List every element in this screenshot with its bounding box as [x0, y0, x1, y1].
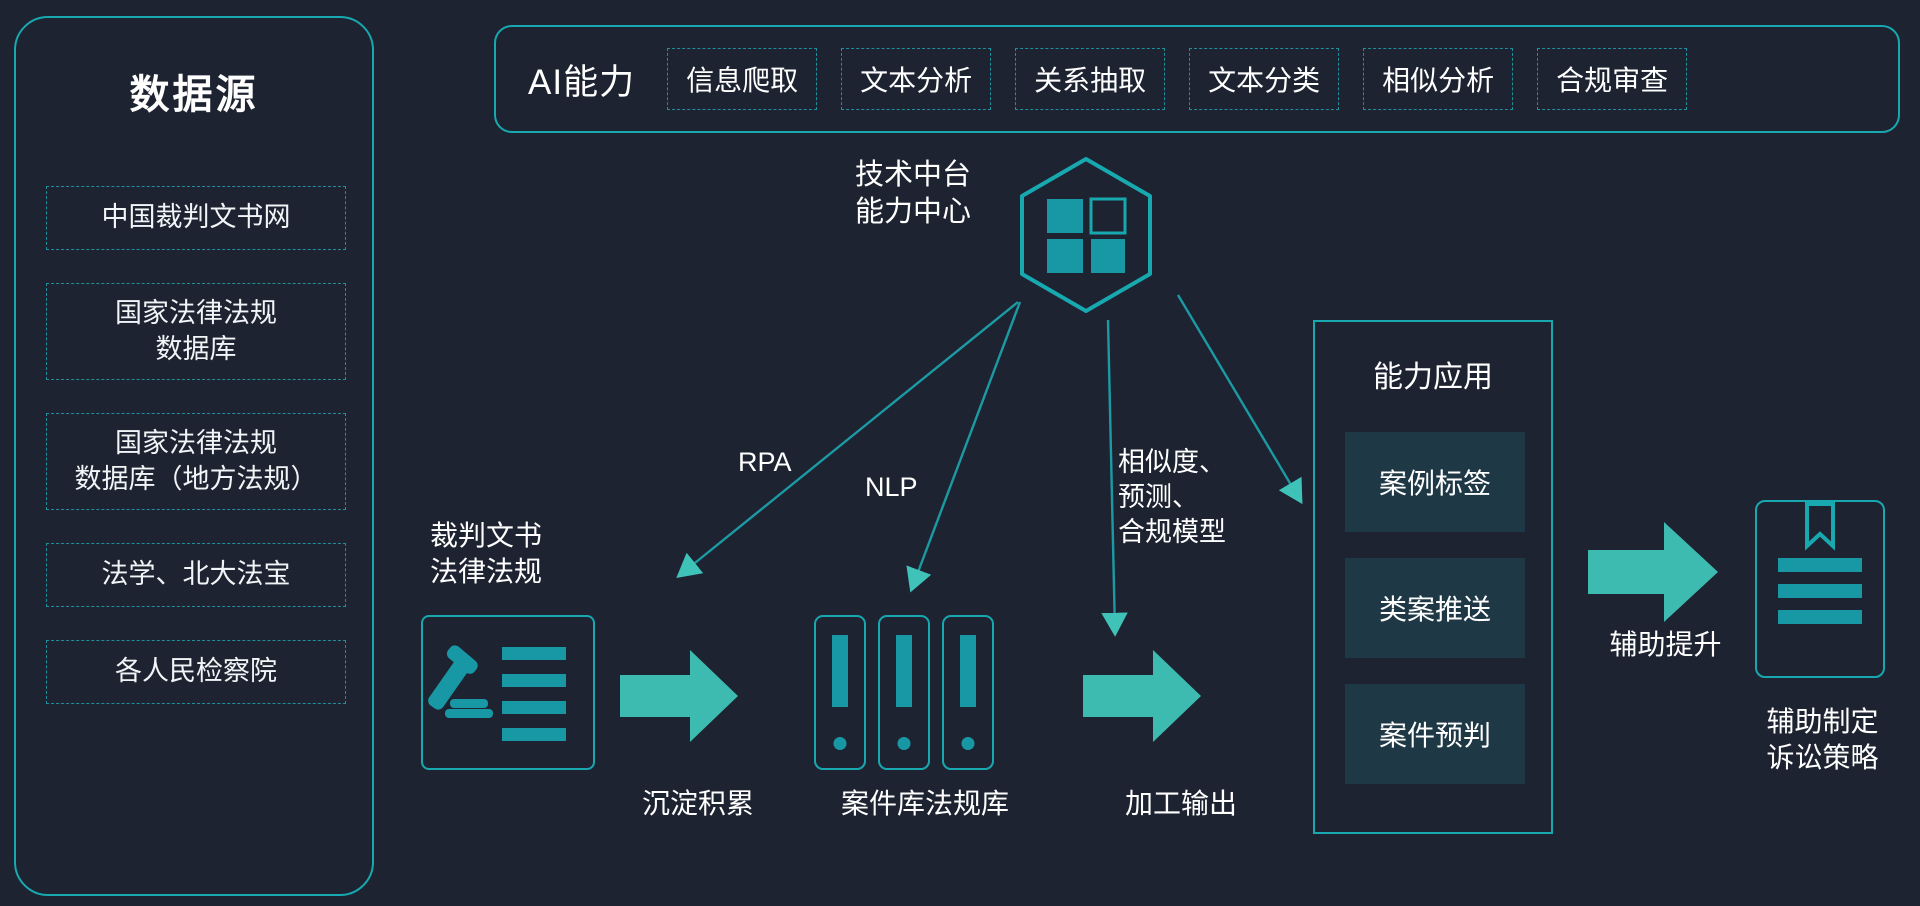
- server-bar: [960, 635, 976, 707]
- ai-chip-0[interactable]: 信息爬取: [667, 48, 817, 110]
- edge-hub-to-processing-output: [1108, 320, 1115, 632]
- ai-capability-chip-list: 信息爬取 文本分析 关系抽取 文本分类 相似分析 合规审查: [667, 48, 1687, 110]
- edge-hub-to-case-repository: [912, 302, 1020, 588]
- server-unit: [814, 615, 866, 770]
- edge-label-nlp: NLP: [865, 470, 918, 505]
- server-unit: [942, 615, 994, 770]
- ability-card-0[interactable]: 案例标签: [1345, 432, 1525, 532]
- gavel-document-icon: [421, 615, 595, 770]
- server-dot: [962, 737, 975, 750]
- data-source-item-label: 国家法律法规 数据库: [115, 296, 277, 367]
- ai-chip-4[interactable]: 相似分析: [1363, 48, 1513, 110]
- flow-arrow-2-icon: [1083, 650, 1201, 747]
- ability-card-1[interactable]: 类案推送: [1345, 558, 1525, 658]
- bookmarked-document-icon: [1755, 500, 1885, 678]
- judgment-documents-top-label: 裁判文书 法律法规: [430, 518, 590, 591]
- case-repository-bottom-label: 案件库法规库: [810, 786, 1040, 822]
- server-bar: [832, 635, 848, 707]
- data-source-panel: 数据源 中国裁判文书网 国家法律法规 数据库 国家法律法规 数据库（地方法规） …: [14, 16, 374, 896]
- judgment-documents-bottom-label: 沉淀积累: [613, 786, 783, 822]
- ability-application-title: 能力应用: [1315, 352, 1551, 396]
- server-unit: [878, 615, 930, 770]
- data-source-item-2[interactable]: 国家法律法规 数据库（地方法规）: [46, 413, 346, 510]
- server-dot: [898, 737, 911, 750]
- data-source-item-label: 国家法律法规 数据库（地方法规）: [75, 426, 318, 497]
- data-source-item-label: 各人民检察院: [115, 654, 277, 690]
- server-dot: [834, 737, 847, 750]
- output-arrow-label: 辅助提升: [1593, 627, 1738, 663]
- edge-label-rpa: RPA: [738, 445, 792, 480]
- ai-chip-5[interactable]: 合规审查: [1537, 48, 1687, 110]
- hexagon-four-squares-icon: [1017, 155, 1155, 315]
- data-source-item-label: 法学、北大法宝: [102, 557, 291, 593]
- data-source-item-4[interactable]: 各人民检察院: [46, 640, 346, 704]
- data-source-item-0[interactable]: 中国裁判文书网: [46, 186, 346, 250]
- ability-application-card-list: 案例标签 类案推送 案件预判: [1345, 432, 1525, 810]
- data-source-title: 数据源: [16, 62, 372, 120]
- ai-chip-1[interactable]: 文本分析: [841, 48, 991, 110]
- edge-hub-to-judgment-documents: [680, 302, 1018, 575]
- ai-capability-title: AI能力: [528, 54, 635, 105]
- edge-label-similarity: 相似度、 预测、 合规模型: [1118, 445, 1226, 550]
- server-rack-icon: [814, 615, 1032, 770]
- ai-capability-bar: AI能力 信息爬取 文本分析 关系抽取 文本分类 相似分析 合规审查: [494, 25, 1900, 133]
- ai-chip-2[interactable]: 关系抽取: [1015, 48, 1165, 110]
- hub-label: 技术中台 能力中心: [855, 157, 971, 231]
- diagram-canvas: 数据源 中国裁判文书网 国家法律法规 数据库 国家法律法规 数据库（地方法规） …: [0, 0, 1920, 906]
- data-source-item-1[interactable]: 国家法律法规 数据库: [46, 283, 346, 380]
- ai-chip-3[interactable]: 文本分类: [1189, 48, 1339, 110]
- ability-card-2[interactable]: 案件预判: [1345, 684, 1525, 784]
- output-arrow-icon: [1588, 522, 1718, 627]
- ability-application-panel: 能力应用 案例标签 类案推送 案件预判: [1313, 320, 1553, 834]
- data-source-item-label: 中国裁判文书网: [102, 200, 291, 236]
- output-caption: 辅助制定 诉讼策略: [1740, 704, 1905, 777]
- flow-arrow-1-icon: [620, 650, 738, 747]
- data-source-item-3[interactable]: 法学、北大法宝: [46, 543, 346, 607]
- data-source-list: 中国裁判文书网 国家法律法规 数据库 国家法律法规 数据库（地方法规） 法学、北…: [46, 186, 346, 737]
- server-bar: [896, 635, 912, 707]
- processing-output-bottom-label: 加工输出: [1096, 786, 1266, 822]
